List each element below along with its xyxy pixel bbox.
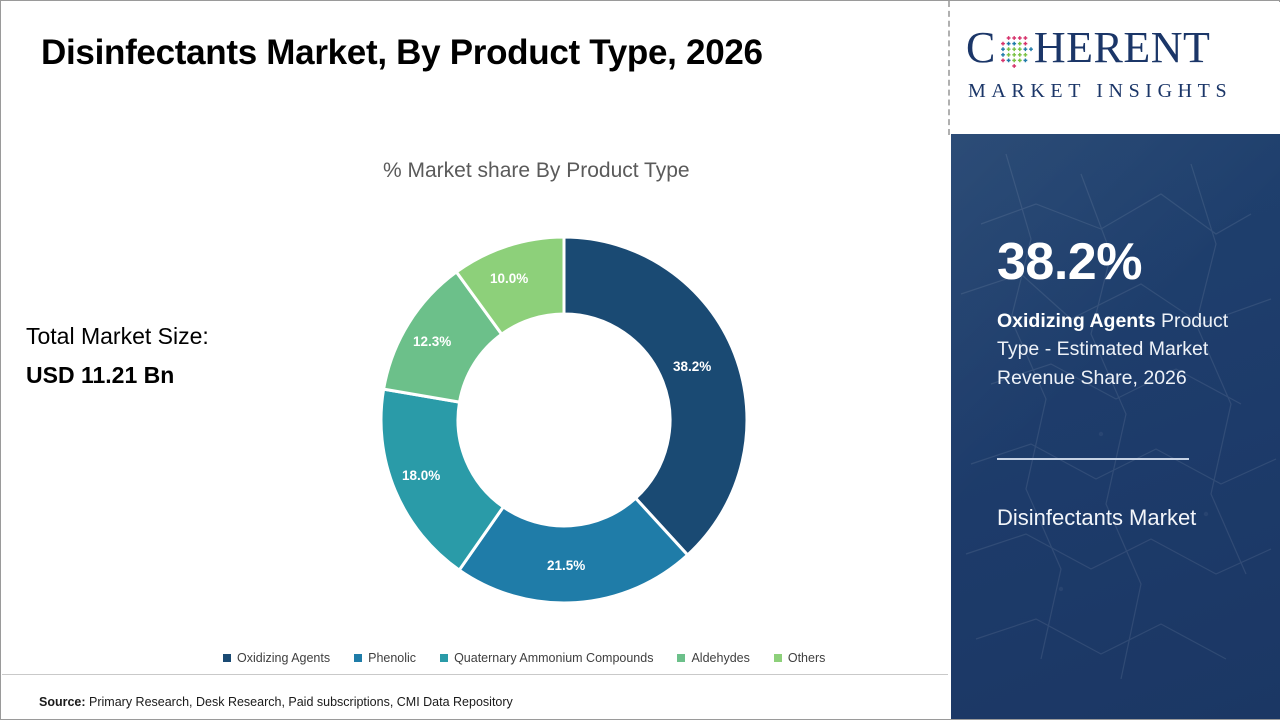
source-note: Source: Primary Research, Desk Research,… [39, 695, 513, 709]
donut-slice [564, 237, 747, 555]
source-divider [2, 674, 948, 675]
globe-dot [1001, 42, 1005, 46]
legend-item-label: Others [788, 651, 826, 665]
globe-dot [1007, 42, 1011, 46]
highlight-stat-panel: 38.2% Oxidizing Agents Product Type - Es… [951, 134, 1280, 719]
slice-label-aldehydes: 12.3% [413, 334, 451, 349]
legend-item-label: Phenolic [368, 651, 416, 665]
legend-item-label: Oxidizing Agents [237, 651, 330, 665]
total-market-size-block: Total Market Size: USD 11.21 Bn [26, 325, 326, 387]
stat-divider [997, 458, 1189, 460]
globe-dot [1007, 36, 1011, 40]
panel-divider [948, 1, 950, 135]
globe-dot [1023, 47, 1027, 51]
stat-content: 38.2% Oxidizing Agents Product Type - Es… [997, 134, 1262, 719]
globe-dot [1029, 47, 1033, 51]
globe-dot [1001, 47, 1005, 51]
stat-description: Oxidizing Agents Product Type - Estimate… [997, 307, 1255, 392]
globe-dot [1023, 53, 1027, 57]
logo-letters-herent: HERENT [1034, 26, 1211, 70]
legend-swatch-icon [440, 654, 448, 662]
globe-dot [1007, 47, 1011, 51]
globe-dot [1012, 59, 1016, 63]
donut-chart-svg [373, 229, 755, 611]
logo-tagline: MARKET INSIGHTS [968, 80, 1266, 103]
chart-panel: Disinfectants Market, By Product Type, 2… [1, 1, 948, 719]
logo-letter-c: C [966, 26, 996, 70]
chart-subtitle: % Market share By Product Type [383, 159, 803, 183]
logo-inner: C HERENT MARKET INSIGHTS [966, 24, 1266, 103]
dotted-globe-svg [997, 32, 1033, 68]
globe-dot [1018, 36, 1022, 40]
slice-label-oxidizing-agents: 38.2% [673, 359, 711, 374]
legend-item-label: Quaternary Ammonium Compounds [454, 651, 653, 665]
globe-dot [1001, 59, 1005, 63]
donut-slice-group [381, 237, 747, 603]
legend-item[interactable]: Phenolic [354, 651, 416, 665]
globe-dot [1018, 42, 1022, 46]
slice-label-others: 10.0% [490, 271, 528, 286]
globe-dot [1018, 47, 1022, 51]
total-market-size-value: USD 11.21 Bn [26, 364, 326, 387]
slice-label-quaternary-ammonium: 18.0% [402, 468, 440, 483]
legend-swatch-icon [677, 654, 685, 662]
chart-legend: Oxidizing AgentsPhenolicQuaternary Ammon… [223, 651, 923, 665]
donut-chart: 38.2% 21.5% 18.0% 12.3% 10.0% [373, 229, 755, 611]
legend-swatch-icon [354, 654, 362, 662]
legend-item-label: Aldehydes [691, 651, 749, 665]
dotted-globe-icon [997, 32, 1033, 68]
stat-footer-title: Disinfectants Market [997, 502, 1247, 534]
legend-swatch-icon [223, 654, 231, 662]
globe-dot [1023, 59, 1027, 63]
globe-dot [1012, 36, 1016, 40]
legend-item[interactable]: Aldehydes [677, 651, 749, 665]
globe-dot [1023, 42, 1027, 46]
stat-description-emphasis: Oxidizing Agents [997, 310, 1156, 332]
brand-logo: C HERENT MARKET INSIGHTS [951, 2, 1280, 134]
legend-item[interactable]: Oxidizing Agents [223, 651, 330, 665]
globe-dot [1018, 59, 1022, 63]
total-market-size-label: Total Market Size: [26, 325, 326, 348]
source-text: Primary Research, Desk Research, Paid su… [86, 695, 513, 709]
globe-dot [1007, 59, 1011, 63]
legend-swatch-icon [774, 654, 782, 662]
page-title: Disinfectants Market, By Product Type, 2… [41, 33, 901, 73]
stat-headline-value: 38.2% [997, 236, 1142, 288]
globe-dot [1012, 53, 1016, 57]
globe-dot [1018, 53, 1022, 57]
globe-dot [1012, 47, 1016, 51]
globe-dot [1012, 42, 1016, 46]
logo-wordmark: C HERENT [966, 24, 1266, 72]
legend-item[interactable]: Others [774, 651, 826, 665]
globe-dot [1007, 53, 1011, 57]
infographic-canvas: Disinfectants Market, By Product Type, 2… [0, 0, 1280, 720]
source-label: Source: [39, 695, 86, 709]
globe-dot [1023, 36, 1027, 40]
slice-label-phenolic: 21.5% [547, 558, 585, 573]
legend-item[interactable]: Quaternary Ammonium Compounds [440, 651, 653, 665]
globe-dot [1012, 64, 1016, 68]
globe-dot [1001, 53, 1005, 57]
